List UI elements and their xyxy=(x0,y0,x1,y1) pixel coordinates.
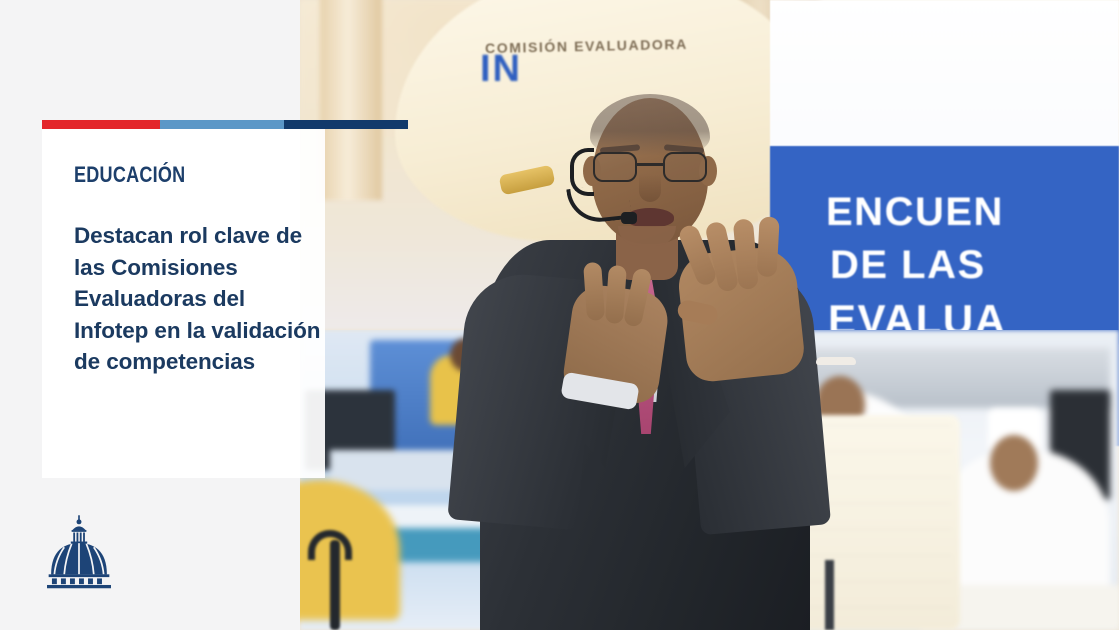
right-hand-thumb xyxy=(676,299,719,327)
color-bar-segment-red xyxy=(42,120,160,129)
color-bar-segment-light-blue xyxy=(160,120,284,129)
headset-microphone-capsule xyxy=(621,212,637,224)
backdrop-pillar xyxy=(320,0,382,200)
eyeglass-bridge xyxy=(637,163,663,166)
eyeglass-lens-left xyxy=(593,152,637,182)
speaker-nose xyxy=(639,174,661,202)
right-hand-finger-4 xyxy=(757,216,780,277)
event-photograph: COMISIÓN EVALUADORA IN ENCUEN DE LAS EVA… xyxy=(300,0,1119,630)
microphone-stand-pole xyxy=(330,540,340,630)
speaker-person xyxy=(440,60,840,630)
news-card-banner: COMISIÓN EVALUADORA IN ENCUEN DE LAS EVA… xyxy=(0,0,1119,630)
color-bar-segment-navy xyxy=(284,120,408,129)
chef-front-right-head xyxy=(990,435,1038,491)
news-text-card: EDUCACIÓN Destacan rol clave de las Comi… xyxy=(42,129,325,478)
brand-color-bar xyxy=(42,120,408,129)
category-kicker: EDUCACIÓN xyxy=(74,162,280,188)
wristwatch xyxy=(499,165,556,196)
page-title: Destacan rol clave de las Comisiones Eva… xyxy=(74,220,324,378)
eyeglass-lens-right xyxy=(663,152,707,182)
speaker-hand-right xyxy=(676,244,807,384)
speaker-teeth xyxy=(816,357,856,365)
dome-logo xyxy=(38,512,120,594)
